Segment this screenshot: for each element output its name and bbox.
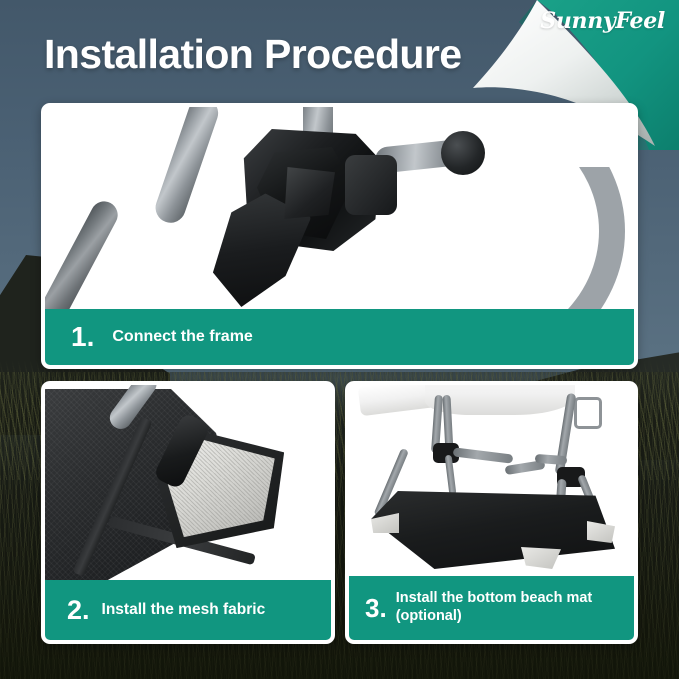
step-2-number: 2.	[67, 597, 90, 624]
step-3-label: Install the bottom beach mat	[396, 590, 593, 606]
step-1-photo	[45, 107, 634, 317]
step-1-connect-the-frame: 1. Connect the frame	[41, 103, 638, 369]
step-2-label: Install the mesh fabric	[102, 601, 266, 620]
chair-crossbar-left	[453, 447, 514, 463]
frame-hub-highlight	[281, 167, 335, 219]
step-2-caption: 2. Install the mesh fabric	[45, 580, 331, 640]
step-1-number: 1.	[71, 323, 94, 351]
step-3-label-wrap: Install the bottom beach mat (optional)	[396, 590, 593, 625]
mesh-fabric-illustration	[45, 385, 331, 588]
frame-tube-lower-left	[45, 197, 122, 317]
step-2-photo	[45, 385, 331, 588]
frame-tube-upper-left	[151, 107, 222, 227]
step-1-caption: 1. Connect the frame	[45, 309, 634, 365]
page-title: Installation Procedure	[44, 31, 461, 78]
step-3-photo	[349, 385, 634, 584]
beach-mat-surface	[371, 491, 615, 569]
step-3-number: 3.	[365, 595, 387, 621]
step-3-caption: 3. Install the bottom beach mat (optiona…	[349, 576, 634, 640]
brand-logo: SunnyFeel	[540, 8, 665, 34]
step-3-install-the-bottom-beach-mat: 3. Install the bottom beach mat (optiona…	[345, 381, 638, 644]
step-2-install-the-mesh-fabric: 2. Install the mesh fabric	[41, 381, 335, 644]
beach-mat-corner-front	[521, 547, 561, 569]
step-3-label-line2: (optional)	[396, 608, 462, 624]
step-1-label: Connect the frame	[112, 327, 252, 347]
frame-hub-illustration	[45, 107, 634, 317]
cup-holder-icon	[574, 397, 602, 429]
frame-hub-sleeve-right	[345, 155, 397, 215]
beach-mat-illustration	[349, 385, 634, 584]
beach-mat-corner-right	[587, 521, 615, 543]
